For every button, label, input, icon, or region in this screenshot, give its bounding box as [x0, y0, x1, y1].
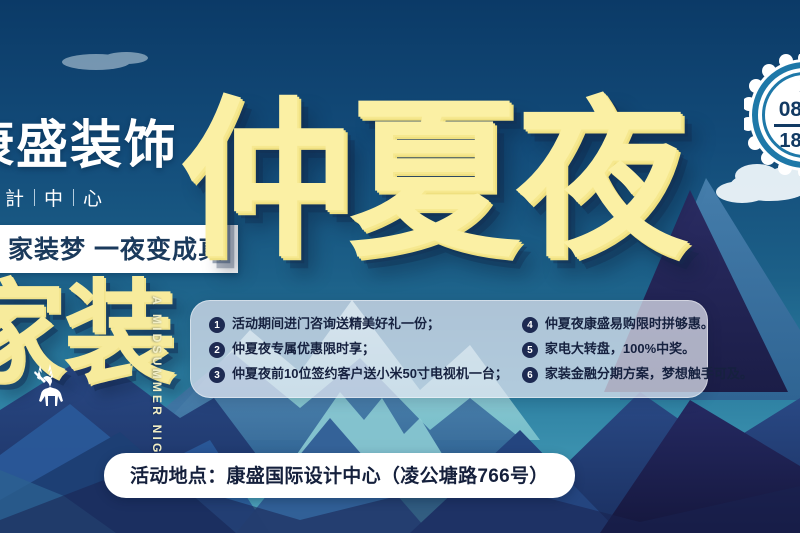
brand-sub-divider-1: [34, 189, 35, 206]
stamp-date: 08/25: [779, 98, 800, 121]
list-item-label: 仲夏夜康盛易购限时拼够惠。: [545, 315, 714, 332]
brand-sub-char-2: 中: [44, 184, 64, 211]
brand-subtitle: 設 計 中 心: [0, 184, 194, 211]
list-item-number: 1: [209, 317, 225, 333]
brand-sub-char-1: 計: [5, 184, 25, 211]
list-item: 1 活动期间进门咨询送精美好礼一份；: [209, 315, 508, 333]
page-title: 仲夏夜: [180, 95, 684, 267]
list-item: 6 家装金融分期方案，梦想触手可及。: [522, 365, 753, 383]
deer-icon: [26, 361, 70, 413]
list-item-number: 6: [522, 367, 538, 383]
list-item: 3 仲夏夜前10位签约客户送小米50寸电视机一台；: [209, 365, 508, 383]
event-address-pill: 活动地点：康盛国际设计中心（凌公塘路766号）: [104, 453, 575, 498]
list-item-label: 仲夏夜专属优惠限时享；: [232, 340, 375, 357]
event-datetime-stamp: X 08/25 18:00: [744, 54, 800, 176]
list-item: 4 仲夏夜康盛易购限时拼够惠。: [522, 315, 753, 333]
list-item-number: 2: [209, 342, 225, 358]
poster-canvas: 康盛装饰 設 計 中 心 家装梦 一夜变成真 仲夏夜 家装 A MIDSUMME…: [0, 0, 800, 533]
list-item-number: 5: [522, 342, 538, 358]
list-item-number: 4: [522, 317, 538, 333]
brand-block: 康盛装饰 設 計 中 心 家装梦 一夜变成真: [0, 118, 194, 273]
list-item-number: 3: [209, 367, 225, 383]
brand-sub-divider-2: [73, 189, 74, 206]
stamp-time: 18:00: [779, 130, 800, 152]
list-item-label: 活动期间进门咨询送精美好礼一份；: [232, 315, 440, 332]
list-item: 2 仲夏夜专属优惠限时享；: [209, 340, 508, 358]
benefits-panel: 1 活动期间进门咨询送精美好礼一份； 2 仲夏夜专属优惠限时享； 3 仲夏夜前1…: [190, 300, 708, 398]
stamp-divider: [774, 124, 800, 127]
benefits-right-column: 4 仲夏夜康盛易购限时拼够惠。 5 家电大转盘，100%中奖。 6 家装金融分期…: [522, 315, 753, 383]
list-item-label: 仲夏夜前10位签约客户送小米50寸电视机一台；: [232, 365, 508, 382]
vertical-english-label: A MIDSUMMER NIGHT: [150, 296, 164, 478]
brand-sub-char-3: 心: [83, 184, 103, 211]
list-item: 5 家电大转盘，100%中奖。: [522, 340, 753, 358]
list-item-label: 家电大转盘，100%中奖。: [545, 340, 695, 357]
benefits-left-column: 1 活动期间进门咨询送精美好礼一份； 2 仲夏夜专属优惠限时享； 3 仲夏夜前1…: [209, 315, 508, 383]
list-item-label: 家装金融分期方案，梦想触手可及。: [545, 365, 753, 382]
brand-name: 康盛装饰: [0, 118, 194, 174]
